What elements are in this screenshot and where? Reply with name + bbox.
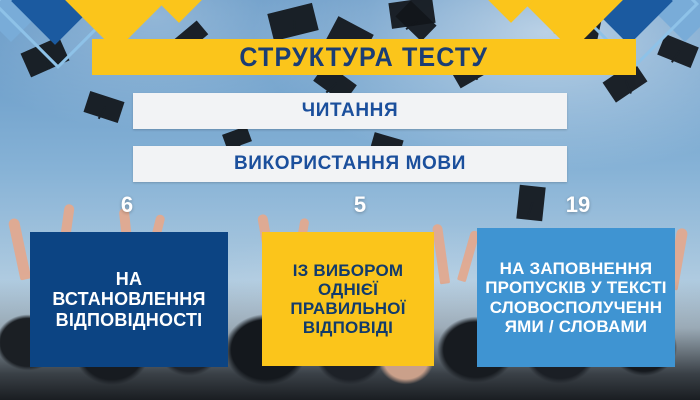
page-title: СТРУКТУРА ТЕСТУ	[240, 44, 489, 71]
task-card-label-matching: НА ВСТАНОВЛЕННЯ ВІДПОВІДНОСТІ	[38, 269, 220, 329]
task-card-label-multiple-choice: ІЗ ВИБОРОМ ОДНІЄЇ ПРАВИЛЬНОЇ ВІДПОВІДІ	[270, 261, 426, 337]
task-count-0: 6	[97, 192, 157, 218]
poster-canvas: СТРУКТУРА ТЕСТУ ЧИТАННЯ ВИКОРИСТАННЯ МОВ…	[0, 0, 700, 400]
section-bar-language-use: ВИКОРИСТАННЯ МОВИ	[133, 146, 567, 182]
task-card-label-gap-fill: НА ЗАПОВНЕННЯ ПРОПУСКІВ У ТЕКСТІ СЛОВОСП…	[485, 259, 667, 335]
section-label-reading: ЧИТАННЯ	[302, 100, 398, 122]
task-card-gap-fill: НА ЗАПОВНЕННЯ ПРОПУСКІВ У ТЕКСТІ СЛОВОСП…	[477, 228, 675, 367]
task-count-2: 19	[548, 192, 608, 218]
section-bar-reading: ЧИТАННЯ	[133, 93, 567, 129]
task-count-1: 5	[330, 192, 390, 218]
task-card-matching: НА ВСТАНОВЛЕННЯ ВІДПОВІДНОСТІ	[30, 232, 228, 367]
poster-title-banner: СТРУКТУРА ТЕСТУ	[92, 39, 636, 75]
section-label-language-use: ВИКОРИСТАННЯ МОВИ	[234, 153, 466, 175]
task-card-multiple-choice: ІЗ ВИБОРОМ ОДНІЄЇ ПРАВИЛЬНОЇ ВІДПОВІДІ	[262, 232, 434, 366]
graduation-cap-icon	[516, 185, 545, 222]
